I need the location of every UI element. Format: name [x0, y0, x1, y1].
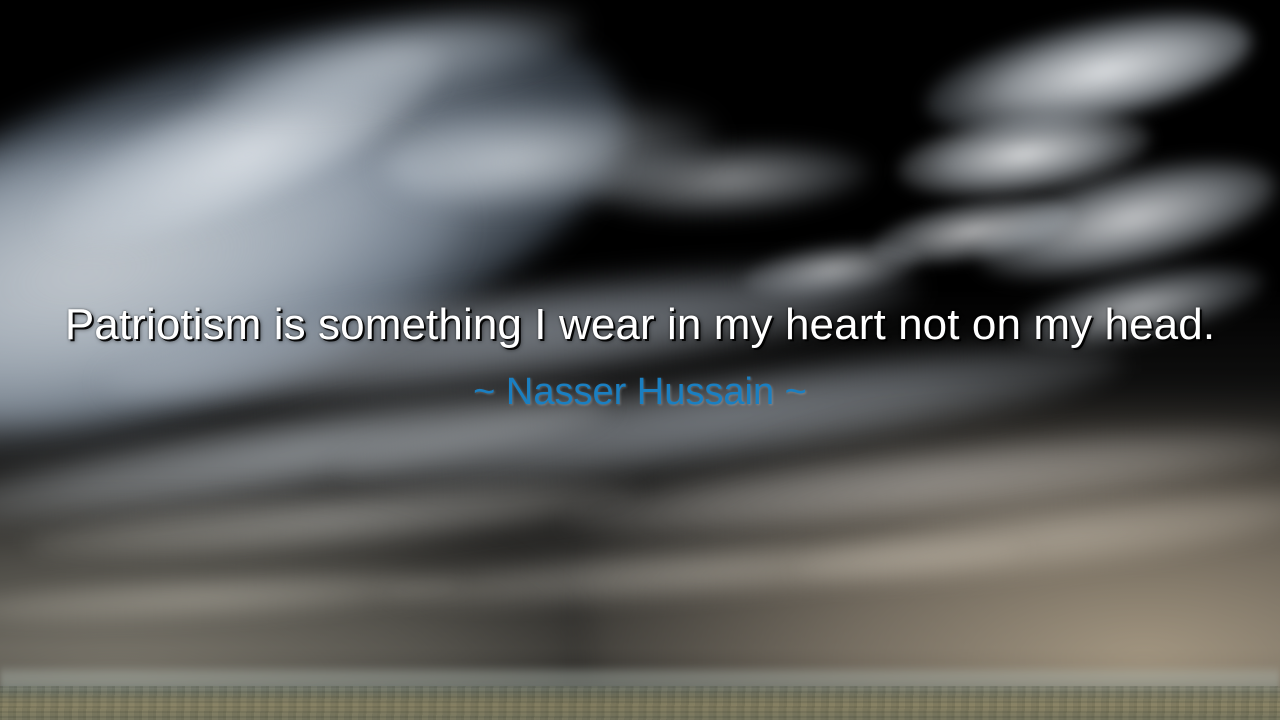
ground-texture [0, 686, 1280, 720]
quote-author: ~ Nasser Hussain ~ [40, 369, 1240, 417]
horizon-glow-right [589, 403, 1280, 705]
quote-block: Patriotism is something I wear in my hea… [0, 298, 1280, 416]
quote-card-canvas: Patriotism is something I wear in my hea… [0, 0, 1280, 720]
quote-text: Patriotism is something I wear in my hea… [40, 298, 1240, 352]
